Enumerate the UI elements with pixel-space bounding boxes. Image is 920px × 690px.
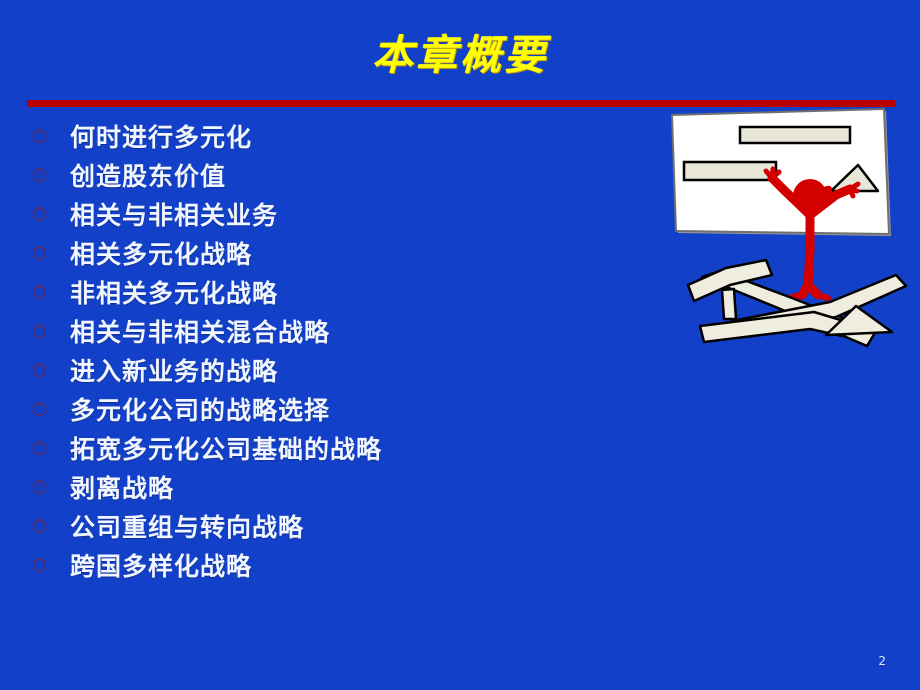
stick-figure-holding-board-illustration <box>660 105 920 355</box>
clock-icon: ⏱ <box>26 362 70 381</box>
clock-icon: ⏱ <box>26 245 70 264</box>
board-rect-left <box>684 162 776 180</box>
clock-icon: ⏱ <box>26 167 70 186</box>
scattered-planks <box>688 260 906 346</box>
clock-icon: ⏱ <box>26 557 70 576</box>
list-item-label: 相关多元化战略 <box>70 240 252 270</box>
list-item[interactable]: ⏱ 何时进行多元化 <box>26 118 666 157</box>
list-item[interactable]: ⏱ 非相关多元化战略 <box>26 274 666 313</box>
clock-icon: ⏱ <box>26 518 70 537</box>
list-item[interactable]: ⏱ 剥离战略 <box>26 469 666 508</box>
list-item-label: 创造股东价值 <box>70 162 226 192</box>
clock-icon: ⏱ <box>26 479 70 498</box>
list-item-label: 何时进行多元化 <box>70 123 252 153</box>
clock-icon: ⏱ <box>26 440 70 459</box>
list-item[interactable]: ⏱ 进入新业务的战略 <box>26 352 666 391</box>
list-item-label: 剥离战略 <box>70 474 174 504</box>
list-item[interactable]: ⏱ 相关与非相关业务 <box>26 196 666 235</box>
list-item[interactable]: ⏱ 多元化公司的战略选择 <box>26 391 666 430</box>
list-item-label: 拓宽多元化公司基础的战略 <box>70 435 382 465</box>
list-item-label: 相关与非相关混合战略 <box>70 318 330 348</box>
list-item-label: 公司重组与转向战略 <box>70 513 304 543</box>
list-item-label: 多元化公司的战略选择 <box>70 396 330 426</box>
list-item[interactable]: ⏱ 创造股东价值 <box>26 157 666 196</box>
list-item-label: 相关与非相关业务 <box>70 201 278 231</box>
clock-icon: ⏱ <box>26 206 70 225</box>
bullet-list: ⏱ 何时进行多元化 ⏱ 创造股东价值 ⏱ 相关与非相关业务 ⏱ 相关多元化战略 … <box>26 118 666 586</box>
list-item-label: 非相关多元化战略 <box>70 279 278 309</box>
list-item[interactable]: ⏱ 公司重组与转向战略 <box>26 508 666 547</box>
list-item-label: 进入新业务的战略 <box>70 357 278 387</box>
list-item-label: 跨国多样化战略 <box>70 552 252 582</box>
clock-icon: ⏱ <box>26 128 70 147</box>
list-item[interactable]: ⏱ 相关与非相关混合战略 <box>26 313 666 352</box>
clock-icon: ⏱ <box>26 401 70 420</box>
slide-canvas: 本章概要 ⏱ 何时进行多元化 ⏱ 创造股东价值 ⏱ 相关与非相关业务 ⏱ 相关多… <box>0 0 920 690</box>
list-item[interactable]: ⏱ 跨国多样化战略 <box>26 547 666 586</box>
page-title: 本章概要 <box>0 30 920 80</box>
board-rect-top <box>740 127 850 143</box>
list-item[interactable]: ⏱ 拓宽多元化公司基础的战略 <box>26 430 666 469</box>
clock-icon: ⏱ <box>26 323 70 342</box>
list-item[interactable]: ⏱ 相关多元化战略 <box>26 235 666 274</box>
page-number: 2 <box>878 654 886 668</box>
clock-icon: ⏱ <box>26 284 70 303</box>
